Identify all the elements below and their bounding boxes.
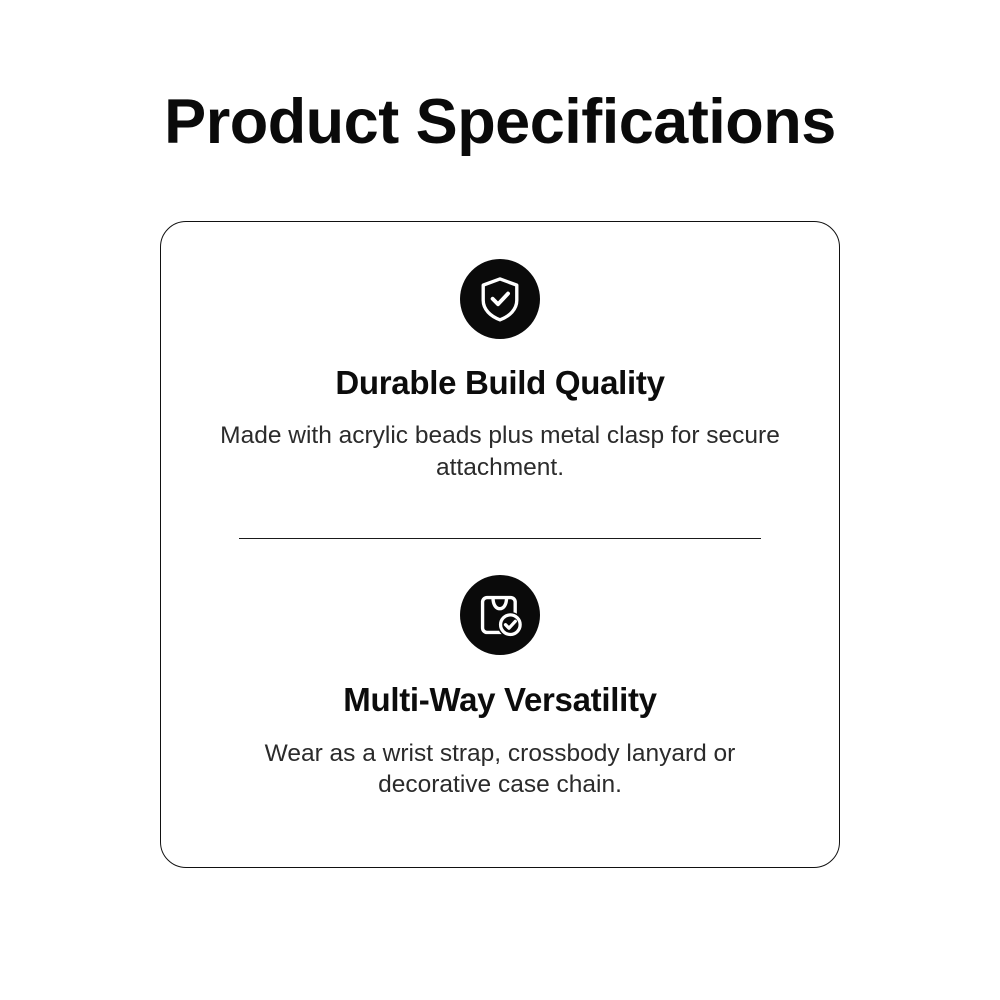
spec-heading: Durable Build Quality — [315, 364, 684, 402]
product-specifications-page: Product Specifications Durable Build Qua… — [0, 0, 1000, 1000]
spec-section-multi-way-versatility: Multi-Way Versatility Wear as a wrist st… — [161, 539, 839, 802]
spec-heading: Multi-Way Versatility — [323, 681, 676, 719]
page-title: Product Specifications — [0, 88, 1000, 157]
spec-description: Wear as a wrist strap, crossbody lanyard… — [162, 738, 838, 802]
shield-check-icon — [460, 259, 540, 339]
spec-section-durable-build-quality: Durable Build Quality Made with acrylic … — [161, 222, 839, 484]
spec-description: Made with acrylic beads plus metal clasp… — [162, 420, 838, 484]
shopping-bag-check-icon — [460, 575, 540, 655]
specifications-card: Durable Build Quality Made with acrylic … — [160, 221, 840, 868]
